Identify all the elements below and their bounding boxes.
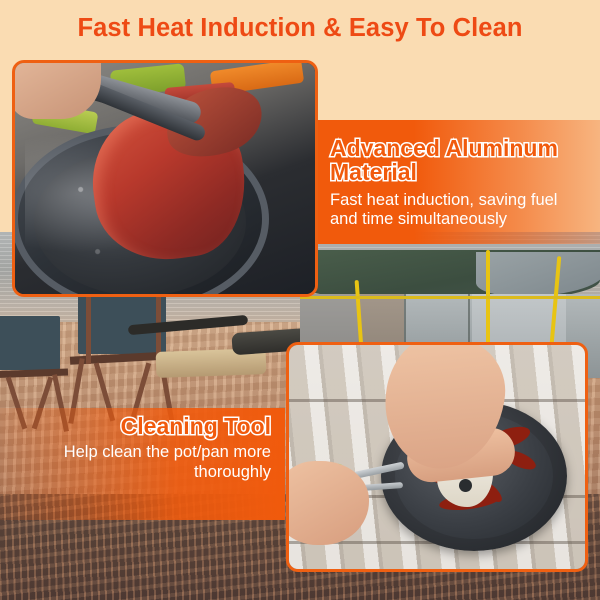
feature-panel-advanced-aluminum: Advanced Aluminum Material Fast heat ind… — [318, 120, 600, 244]
photo-card-cooking-steak — [12, 60, 318, 297]
marketing-infographic: Fast Heat Induction & Easy To Clean — [0, 0, 600, 600]
feature-description: Fast heat induction, saving fuel and tim… — [318, 185, 600, 230]
header-banner: Fast Heat Induction & Easy To Clean — [0, 0, 600, 56]
feature-description: Help clean the pot/pan more thoroughly — [0, 438, 285, 482]
feature-title: Advanced Aluminum Material — [318, 130, 600, 185]
feature-panel-cleaning-tool: Cleaning Tool Help clean the pot/pan mor… — [0, 408, 285, 520]
photo-card-cleaning-pan — [286, 342, 588, 572]
page-title: Fast Heat Induction & Easy To Clean — [77, 14, 522, 43]
feature-title: Cleaning Tool — [0, 408, 285, 438]
